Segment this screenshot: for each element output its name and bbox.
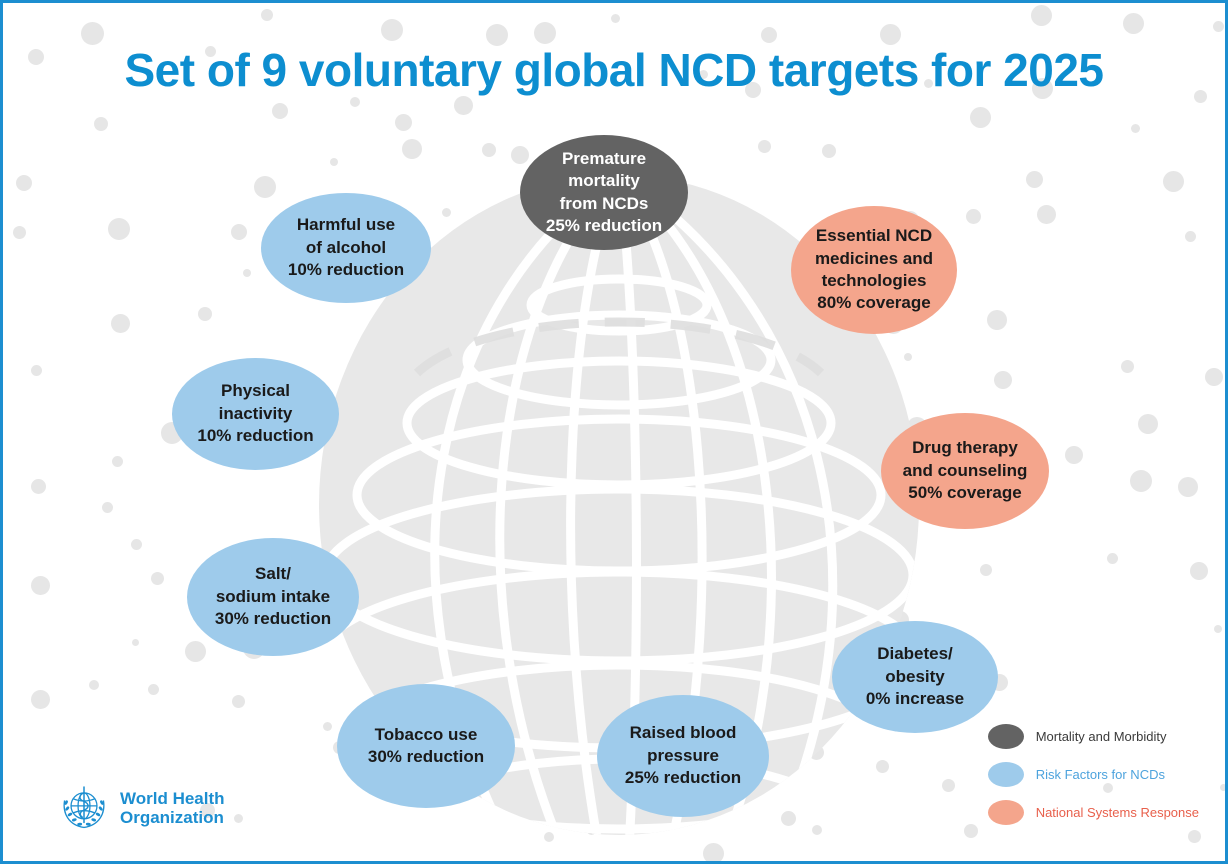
target-line: pressure xyxy=(625,745,741,767)
target-line: Physical xyxy=(197,380,313,402)
legend-label-mortality: Mortality and Morbidity xyxy=(1036,729,1167,744)
target-metric: 0% increase xyxy=(866,688,964,710)
target-bubble-essential-ncd-medicines[interactable]: Essential NCD medicines and technologies… xyxy=(791,206,957,334)
legend-item-mortality[interactable]: Mortality and Morbidity xyxy=(988,724,1199,749)
target-line: from NCDs xyxy=(546,193,662,215)
who-logo-text: World Health Organization xyxy=(120,789,225,827)
target-metric: 25% reduction xyxy=(546,215,662,237)
target-line: and counseling xyxy=(903,460,1028,482)
target-bubble-tobacco-use[interactable]: Tobacco use 30% reduction xyxy=(337,684,515,808)
who-emblem-icon xyxy=(57,781,111,835)
target-bubble-harmful-use-of-alcohol[interactable]: Harmful use of alcohol 10% reduction xyxy=(261,193,431,303)
target-metric: 25% reduction xyxy=(625,767,741,789)
target-line: Harmful use xyxy=(288,214,404,236)
target-line: inactivity xyxy=(197,403,313,425)
target-line: Drug therapy xyxy=(903,437,1028,459)
target-line: medicines and xyxy=(815,248,933,270)
legend-swatch-risk-factors xyxy=(988,762,1024,787)
target-bubble-diabetes-obesity[interactable]: Diabetes/ obesity 0% increase xyxy=(832,621,998,733)
target-line: Tobacco use xyxy=(368,724,484,746)
target-line: obesity xyxy=(866,666,964,688)
target-bubble-raised-blood-pressure[interactable]: Raised blood pressure 25% reduction xyxy=(597,695,769,817)
target-line: mortality xyxy=(546,170,662,192)
target-line: Salt/ xyxy=(215,563,331,585)
target-metric: 10% reduction xyxy=(197,425,313,447)
target-metric: 80% coverage xyxy=(815,292,933,314)
who-logo-line1: World Health xyxy=(120,789,225,808)
target-line: Essential NCD xyxy=(815,225,933,247)
target-line: Premature xyxy=(546,148,662,170)
page-title: Set of 9 voluntary global NCD targets fo… xyxy=(3,43,1225,97)
legend: Mortality and Morbidity Risk Factors for… xyxy=(988,724,1199,825)
legend-label-national-systems: National Systems Response xyxy=(1036,805,1199,820)
legend-item-risk-factors[interactable]: Risk Factors for NCDs xyxy=(988,762,1199,787)
legend-swatch-mortality xyxy=(988,724,1024,749)
legend-label-risk-factors: Risk Factors for NCDs xyxy=(1036,767,1165,782)
target-metric: 50% coverage xyxy=(903,482,1028,504)
target-line: Diabetes/ xyxy=(866,643,964,665)
legend-item-national-systems[interactable]: National Systems Response xyxy=(988,800,1199,825)
target-bubble-drug-therapy-and-counseling[interactable]: Drug therapy and counseling 50% coverage xyxy=(881,413,1049,529)
target-line: technologies xyxy=(815,270,933,292)
legend-swatch-national-systems xyxy=(988,800,1024,825)
target-line: Raised blood xyxy=(625,722,741,744)
who-logo-line2: Organization xyxy=(120,808,225,827)
target-metric: 30% reduction xyxy=(368,746,484,768)
infographic-poster: Set of 9 voluntary global NCD targets fo… xyxy=(0,0,1228,864)
target-line: of alcohol xyxy=(288,237,404,259)
target-bubble-salt-sodium-intake[interactable]: Salt/ sodium intake 30% reduction xyxy=(187,538,359,656)
target-metric: 10% reduction xyxy=(288,259,404,281)
target-bubble-physical-inactivity[interactable]: Physical inactivity 10% reduction xyxy=(172,358,339,470)
who-logo[interactable]: World Health Organization xyxy=(57,781,225,835)
target-metric: 30% reduction xyxy=(215,608,331,630)
target-bubble-premature-mortality[interactable]: Premature mortality from NCDs 25% reduct… xyxy=(520,135,688,250)
target-line: sodium intake xyxy=(215,586,331,608)
